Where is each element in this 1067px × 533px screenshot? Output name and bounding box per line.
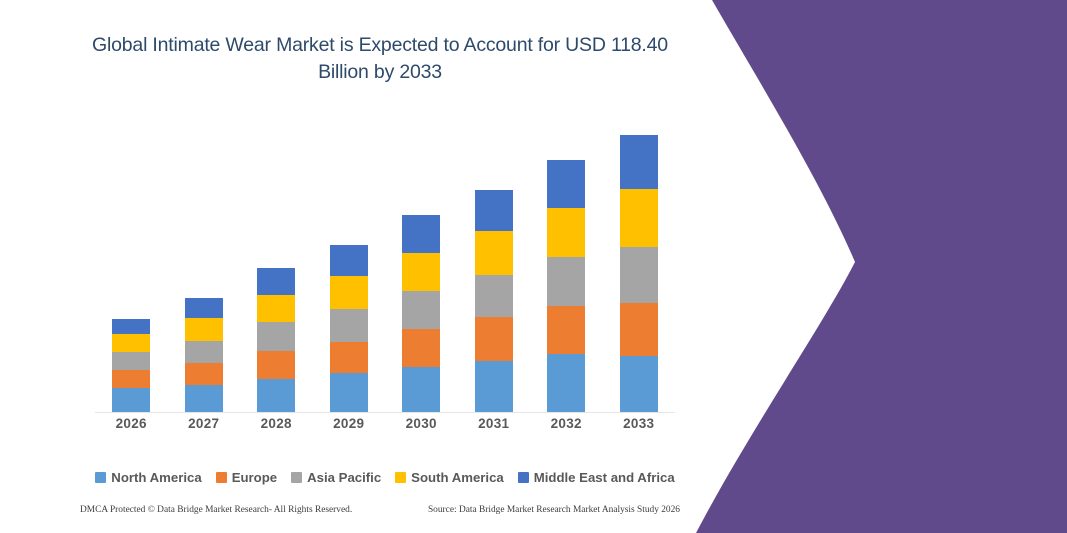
x-label-2031: 2031 xyxy=(458,416,531,431)
chart-title: Global Intimate Wear Market is Expected … xyxy=(70,32,690,86)
bar-segment-asia-pacific[interactable] xyxy=(620,247,658,303)
bar-segment-south-america[interactable] xyxy=(547,208,585,257)
bar-column-2030[interactable] xyxy=(385,120,458,412)
bar-segment-north-america[interactable] xyxy=(475,361,513,412)
bar-segment-europe[interactable] xyxy=(330,342,368,374)
bar-segment-middle-east-and-africa[interactable] xyxy=(402,215,440,252)
footer: DMCA Protected © Data Bridge Market Rese… xyxy=(80,505,680,515)
x-label-2027: 2027 xyxy=(168,416,241,431)
chart-legend: North AmericaEuropeAsia PacificSouth Ame… xyxy=(95,470,675,485)
bar-segment-europe[interactable] xyxy=(620,303,658,356)
right-purple-panel: Global Intimate Wear Market, By Regions,… xyxy=(690,0,1067,533)
stacked-bar[interactable] xyxy=(402,215,440,411)
bar-segment-north-america[interactable] xyxy=(547,354,585,411)
legend-swatch-icon xyxy=(216,472,227,483)
legend-swatch-icon xyxy=(291,472,302,483)
bar-segment-asia-pacific[interactable] xyxy=(257,322,295,351)
x-label-2028: 2028 xyxy=(240,416,313,431)
bar-column-2028[interactable] xyxy=(240,120,313,412)
bar-column-2026[interactable] xyxy=(95,120,168,412)
bar-segment-europe[interactable] xyxy=(475,317,513,360)
purple-panel-shape xyxy=(690,0,1067,533)
bar-segment-middle-east-and-africa[interactable] xyxy=(475,190,513,231)
stacked-bar[interactable] xyxy=(112,319,150,411)
bar-segment-south-america[interactable] xyxy=(257,295,295,323)
bar-segment-north-america[interactable] xyxy=(257,379,295,412)
legend-label: Europe xyxy=(232,470,277,485)
bar-segment-middle-east-and-africa[interactable] xyxy=(257,268,295,295)
chart-panel: Global Intimate Wear Market is Expected … xyxy=(0,0,760,533)
bar-column-2031[interactable] xyxy=(458,120,531,412)
legend-swatch-icon xyxy=(395,472,406,483)
x-axis-line xyxy=(95,412,675,414)
bar-segment-asia-pacific[interactable] xyxy=(547,257,585,306)
bar-segment-north-america[interactable] xyxy=(620,356,658,411)
legend-swatch-icon xyxy=(518,472,529,483)
legend-item-europe[interactable]: Europe xyxy=(216,470,277,485)
stacked-bar[interactable] xyxy=(257,268,295,411)
legend-item-south-america[interactable]: South America xyxy=(395,470,504,485)
bar-segment-south-america[interactable] xyxy=(330,276,368,309)
bar-segment-middle-east-and-africa[interactable] xyxy=(620,135,658,189)
infographic-root: Global Intimate Wear Market is Expected … xyxy=(0,0,1067,533)
bar-column-2027[interactable] xyxy=(168,120,241,412)
bar-series-container xyxy=(95,120,675,412)
x-label-2029: 2029 xyxy=(313,416,386,431)
x-axis-tick-labels: 20262027202820292030203120322033 xyxy=(95,416,675,431)
bar-segment-asia-pacific[interactable] xyxy=(402,291,440,329)
bar-segment-middle-east-and-africa[interactable] xyxy=(547,160,585,208)
bar-segment-north-america[interactable] xyxy=(330,373,368,411)
bar-segment-asia-pacific[interactable] xyxy=(330,309,368,342)
bar-segment-south-america[interactable] xyxy=(475,231,513,274)
legend-item-asia-pacific[interactable]: Asia Pacific xyxy=(291,470,381,485)
legend-item-middle-east-and-africa[interactable]: Middle East and Africa xyxy=(518,470,675,485)
bar-segment-north-america[interactable] xyxy=(112,388,150,411)
stacked-bar[interactable] xyxy=(330,245,368,411)
footer-source: Source: Data Bridge Market Research Mark… xyxy=(428,505,680,515)
bar-segment-asia-pacific[interactable] xyxy=(185,341,223,363)
x-label-2032: 2032 xyxy=(530,416,603,431)
legend-label: North America xyxy=(111,470,201,485)
bar-segment-europe[interactable] xyxy=(402,329,440,367)
bar-column-2033[interactable] xyxy=(603,120,676,412)
x-label-2033: 2033 xyxy=(603,416,676,431)
bar-segment-middle-east-and-africa[interactable] xyxy=(330,245,368,276)
bar-segment-middle-east-and-africa[interactable] xyxy=(112,319,150,334)
legend-label: Asia Pacific xyxy=(307,470,381,485)
stacked-bar[interactable] xyxy=(475,190,513,412)
x-label-2026: 2026 xyxy=(95,416,168,431)
bar-segment-middle-east-and-africa[interactable] xyxy=(185,298,223,318)
stacked-bar[interactable] xyxy=(185,298,223,411)
legend-label: Middle East and Africa xyxy=(534,470,675,485)
bar-column-2032[interactable] xyxy=(530,120,603,412)
bar-segment-north-america[interactable] xyxy=(402,367,440,412)
bar-segment-asia-pacific[interactable] xyxy=(475,275,513,317)
legend-swatch-icon xyxy=(95,472,106,483)
stacked-bar[interactable] xyxy=(547,160,585,411)
bar-segment-europe[interactable] xyxy=(257,351,295,379)
bar-segment-europe[interactable] xyxy=(547,306,585,355)
bar-segment-europe[interactable] xyxy=(185,363,223,385)
bar-segment-south-america[interactable] xyxy=(620,189,658,247)
bar-segment-south-america[interactable] xyxy=(185,318,223,340)
bar-segment-europe[interactable] xyxy=(112,370,150,388)
legend-label: South America xyxy=(411,470,504,485)
stacked-bar[interactable] xyxy=(620,135,658,412)
x-label-2030: 2030 xyxy=(385,416,458,431)
chart-plot-area xyxy=(95,120,675,413)
bar-column-2029[interactable] xyxy=(313,120,386,412)
bar-segment-south-america[interactable] xyxy=(112,334,150,352)
bar-segment-north-america[interactable] xyxy=(185,385,223,412)
legend-item-north-america[interactable]: North America xyxy=(95,470,201,485)
bar-segment-asia-pacific[interactable] xyxy=(112,352,150,370)
bar-segment-south-america[interactable] xyxy=(402,253,440,291)
footer-copyright: DMCA Protected © Data Bridge Market Rese… xyxy=(80,505,352,515)
